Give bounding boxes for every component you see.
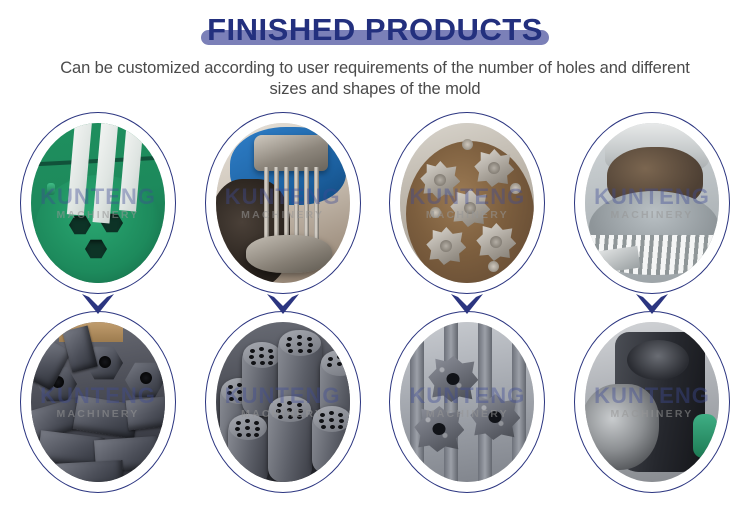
gallery-row-molds: KUNTENG MACHINERY bbox=[0, 112, 750, 298]
gallery-item-green-mold-plate[interactable]: KUNTENG MACHINERY bbox=[18, 112, 178, 298]
down-arrow-icon bbox=[635, 293, 669, 315]
product-photo[interactable]: KUNTENG MACHINERY bbox=[29, 320, 167, 484]
scene-green-mold bbox=[31, 123, 165, 283]
charcoal-crumbs bbox=[583, 384, 659, 470]
mold-pin bbox=[284, 167, 289, 241]
star-briquette bbox=[470, 394, 520, 440]
page-header: FINISHED PRODUCTS Can be customized acco… bbox=[0, 0, 750, 100]
gallery-item-hollow-cylinder-briquette[interactable]: KUNTENG MACHINERY bbox=[572, 311, 732, 497]
briquette-cylinder bbox=[228, 414, 268, 484]
page-title-wrap: FINISHED PRODUCTS bbox=[193, 14, 557, 47]
finished-products-page: FINISHED PRODUCTS Can be customized acco… bbox=[0, 0, 750, 513]
product-photo[interactable]: KUNTENG MACHINERY bbox=[398, 121, 536, 285]
mold-groove bbox=[444, 322, 458, 482]
briquette bbox=[52, 460, 123, 484]
gallery-item-star-shaped-briquettes[interactable]: KUNTENG MACHINERY bbox=[387, 311, 547, 497]
mold-pin bbox=[314, 167, 319, 241]
product-gallery: KUNTENG MACHINERY bbox=[0, 112, 750, 497]
mold-head bbox=[254, 135, 328, 171]
briquette-cylinder bbox=[312, 406, 352, 474]
mold-nub bbox=[47, 183, 55, 195]
gallery-item-multi-hole-briquettes[interactable]: KUNTENG MACHINERY bbox=[203, 311, 363, 497]
scene-star-briquettes bbox=[400, 322, 534, 482]
down-arrow-icon bbox=[450, 293, 484, 315]
gallery-item-gear-drive-assembly[interactable]: KUNTENG MACHINERY bbox=[572, 112, 732, 298]
down-arrow-icon bbox=[266, 293, 300, 315]
scene-star-die-plate bbox=[400, 123, 534, 283]
gallery-item-hexagonal-briquettes[interactable]: KUNTENG MACHINERY bbox=[18, 311, 178, 497]
scene-multi-hole-briquettes bbox=[216, 322, 350, 482]
page-subtitle: Can be customized according to user requ… bbox=[55, 58, 695, 101]
gallery-item-rusty-star-die-plate[interactable]: KUNTENG MACHINERY bbox=[387, 112, 547, 298]
star-briquette bbox=[428, 356, 478, 402]
scene-steel-pin-mold bbox=[216, 123, 350, 283]
product-photo[interactable]: KUNTENG MACHINERY bbox=[214, 320, 352, 484]
mold-pin bbox=[264, 167, 269, 241]
star-briquette bbox=[414, 406, 464, 452]
briquette-cylinder bbox=[268, 396, 312, 482]
scene-gear-assembly bbox=[585, 123, 719, 283]
gallery-item-steel-pin-mold[interactable]: KUNTENG MACHINERY bbox=[203, 112, 363, 298]
product-photo[interactable]: KUNTENG MACHINERY bbox=[583, 121, 721, 285]
scene-hollow-cylinder bbox=[585, 322, 719, 482]
briquette-bore bbox=[627, 340, 689, 380]
machine-part bbox=[693, 414, 717, 458]
mold-pin bbox=[304, 167, 309, 241]
page-title: FINISHED PRODUCTS bbox=[193, 14, 557, 47]
briquette bbox=[126, 396, 167, 431]
product-photo[interactable]: KUNTENG MACHINERY bbox=[583, 320, 721, 484]
product-photo[interactable]: KUNTENG MACHINERY bbox=[29, 121, 167, 285]
mold-pin bbox=[294, 167, 299, 241]
briquette-hole bbox=[99, 356, 111, 368]
gallery-row-briquettes: KUNTENG MACHINERY bbox=[0, 311, 750, 497]
mold-base bbox=[246, 235, 332, 273]
mold-groove bbox=[410, 322, 424, 482]
briquette-hole bbox=[140, 372, 152, 384]
mold-pin bbox=[274, 167, 279, 241]
product-photo[interactable]: KUNTENG MACHINERY bbox=[398, 320, 536, 484]
scene-hexagonal-briquettes bbox=[31, 322, 165, 482]
down-arrow-icon bbox=[81, 293, 115, 315]
product-photo[interactable]: KUNTENG MACHINERY bbox=[214, 121, 352, 285]
